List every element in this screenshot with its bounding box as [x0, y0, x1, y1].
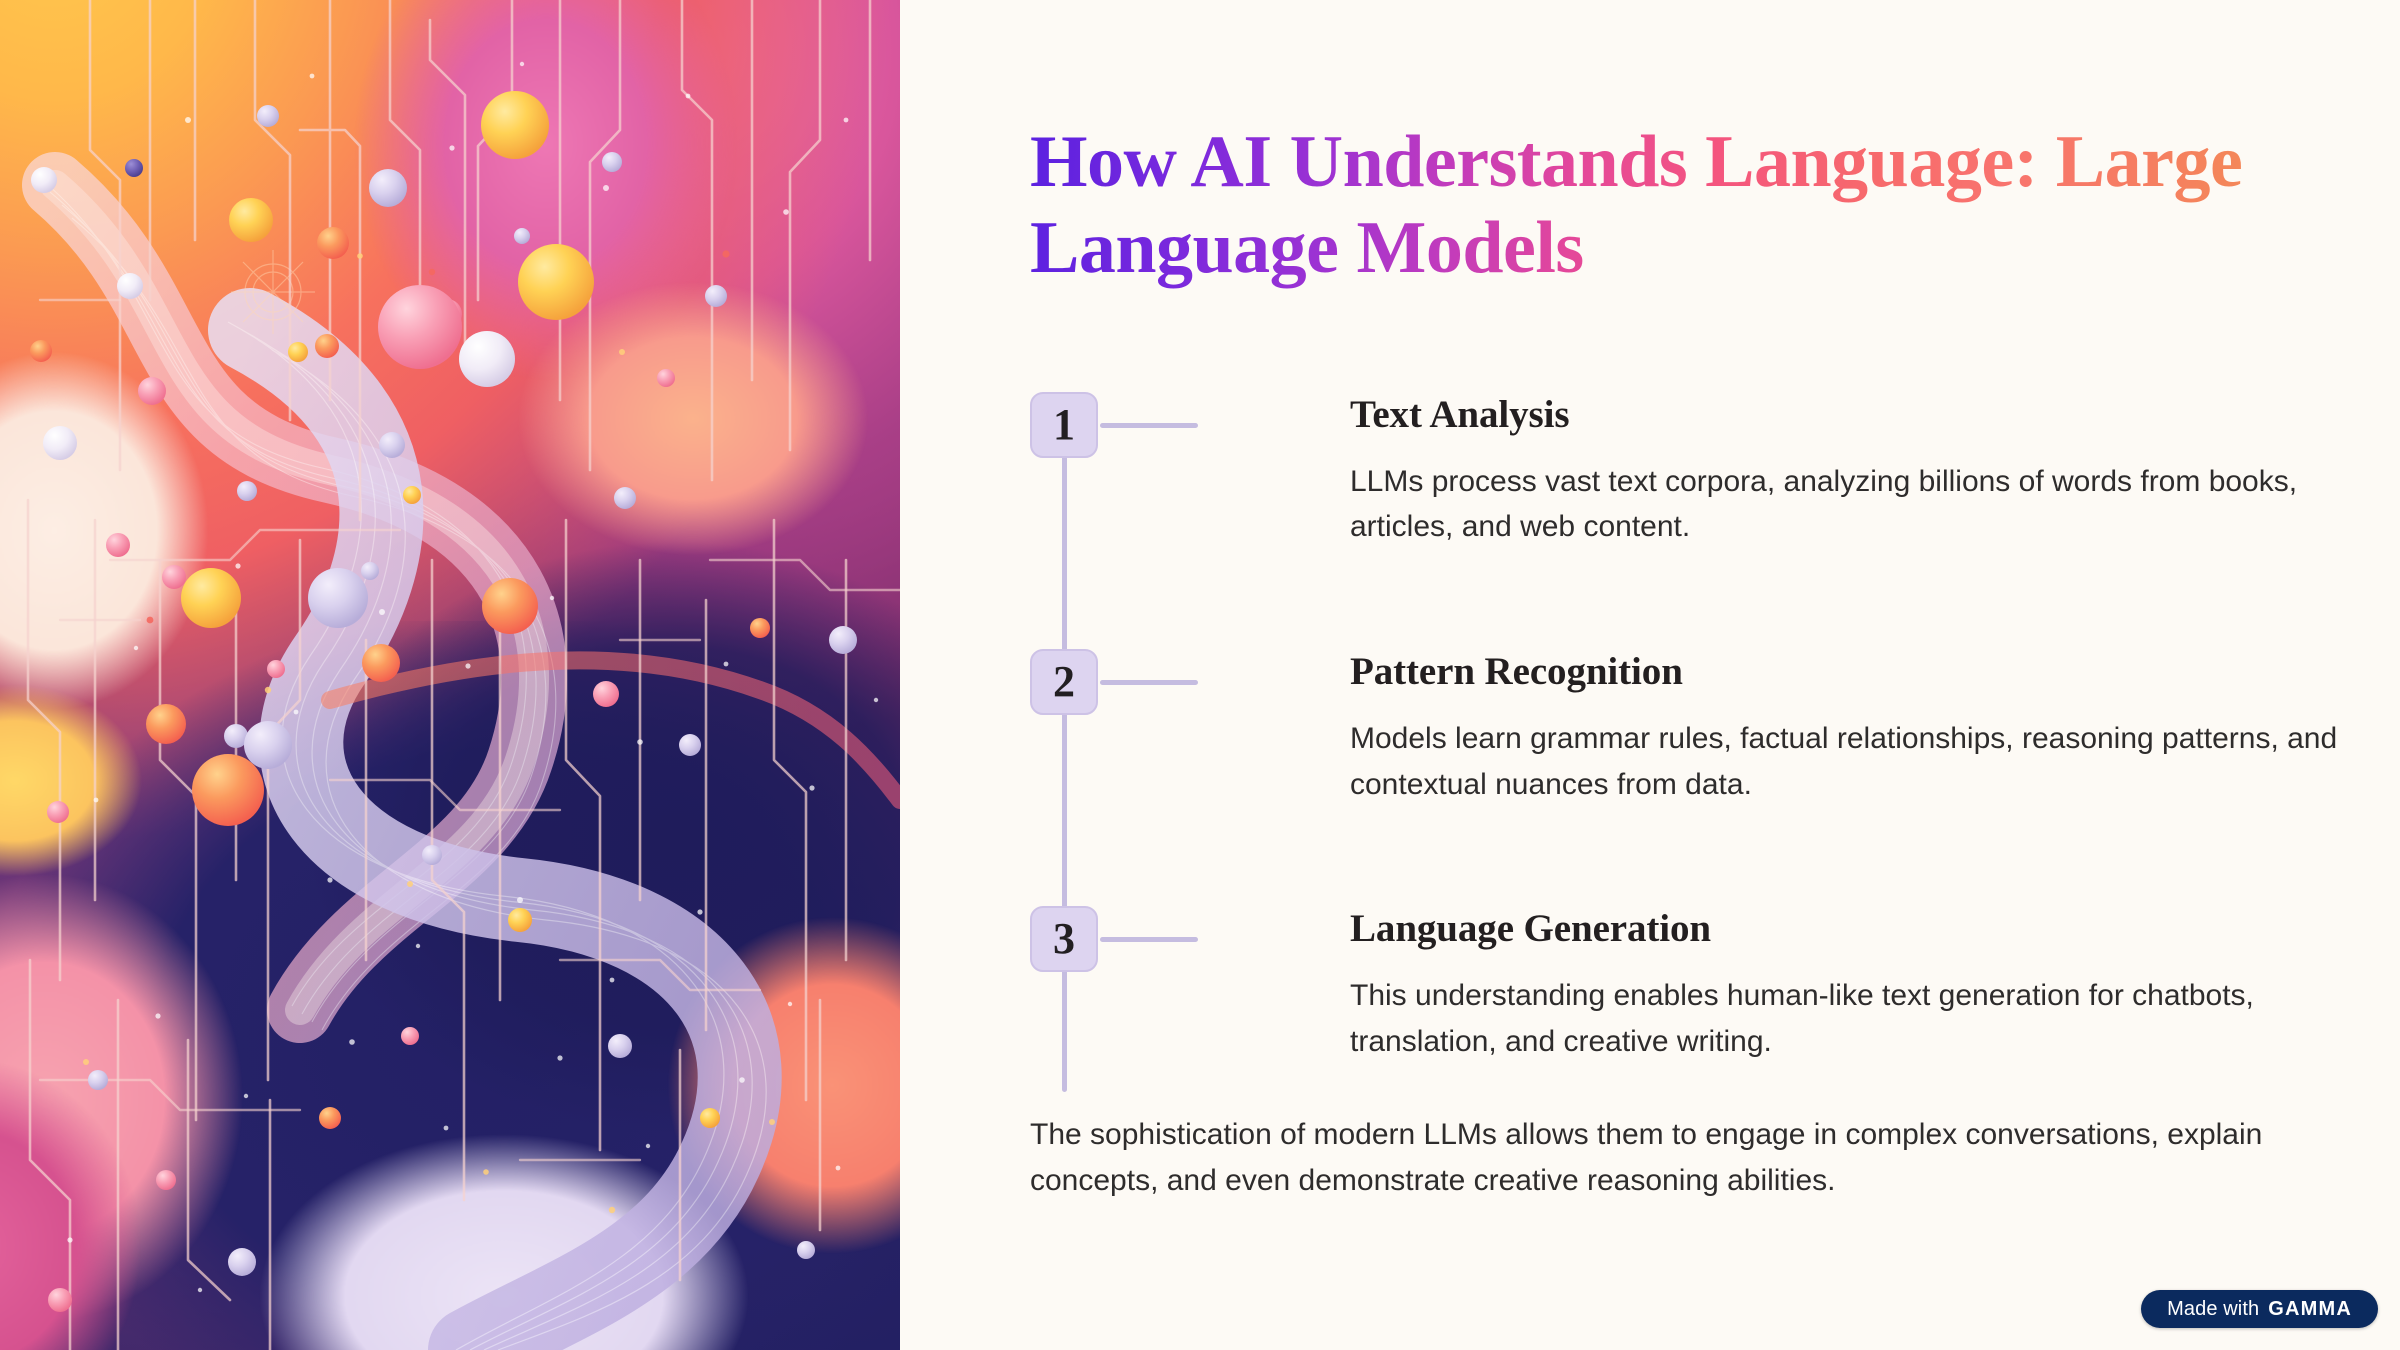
- step-description-2: Models learn grammar rules, factual rela…: [1350, 716, 2350, 807]
- list-item: 3 Language Generation This understanding…: [1030, 906, 2390, 1064]
- step-connector-line-3: [1100, 937, 1198, 942]
- step-number-badge-1: 1: [1030, 392, 1098, 458]
- step-connector-line-2: [1100, 680, 1198, 685]
- made-with-label: Made with: [2167, 1298, 2259, 1321]
- closing-paragraph: The sophistication of modern LLMs allows…: [1030, 1112, 2265, 1203]
- step-description-3: This understanding enables human-like te…: [1350, 973, 2350, 1064]
- step-body-1: Text Analysis LLMs process vast text cor…: [1350, 392, 2350, 550]
- step-heading-1: Text Analysis: [1350, 394, 2350, 437]
- step-body-3: Language Generation This understanding e…: [1350, 906, 2350, 1064]
- illustration-panel: [0, 0, 900, 1350]
- content-panel: How AI Understands Language: Large Langu…: [900, 0, 2400, 1350]
- list-item: 2 Pattern Recognition Models learn gramm…: [1030, 649, 2390, 807]
- list-item: 1 Text Analysis LLMs process vast text c…: [1030, 392, 2390, 550]
- slide-root: How AI Understands Language: Large Langu…: [0, 0, 2400, 1350]
- step-body-2: Pattern Recognition Models learn grammar…: [1350, 649, 2350, 807]
- made-with-gamma-badge[interactable]: Made with GAMMA: [2141, 1290, 2378, 1328]
- step-heading-2: Pattern Recognition: [1350, 651, 2350, 694]
- step-connector-line-1: [1100, 423, 1198, 428]
- illustration-circuit-traces: [0, 0, 900, 1350]
- page-title: How AI Understands Language: Large Langu…: [1030, 120, 2260, 292]
- step-heading-3: Language Generation: [1350, 908, 2350, 951]
- step-number-badge-2: 2: [1030, 649, 1098, 715]
- step-number-badge-3: 3: [1030, 906, 1098, 972]
- step-description-1: LLMs process vast text corpora, analyzin…: [1350, 459, 2350, 550]
- steps-list: 1 Text Analysis LLMs process vast text c…: [1030, 392, 2390, 1064]
- gamma-wordmark: GAMMA: [2268, 1298, 2352, 1321]
